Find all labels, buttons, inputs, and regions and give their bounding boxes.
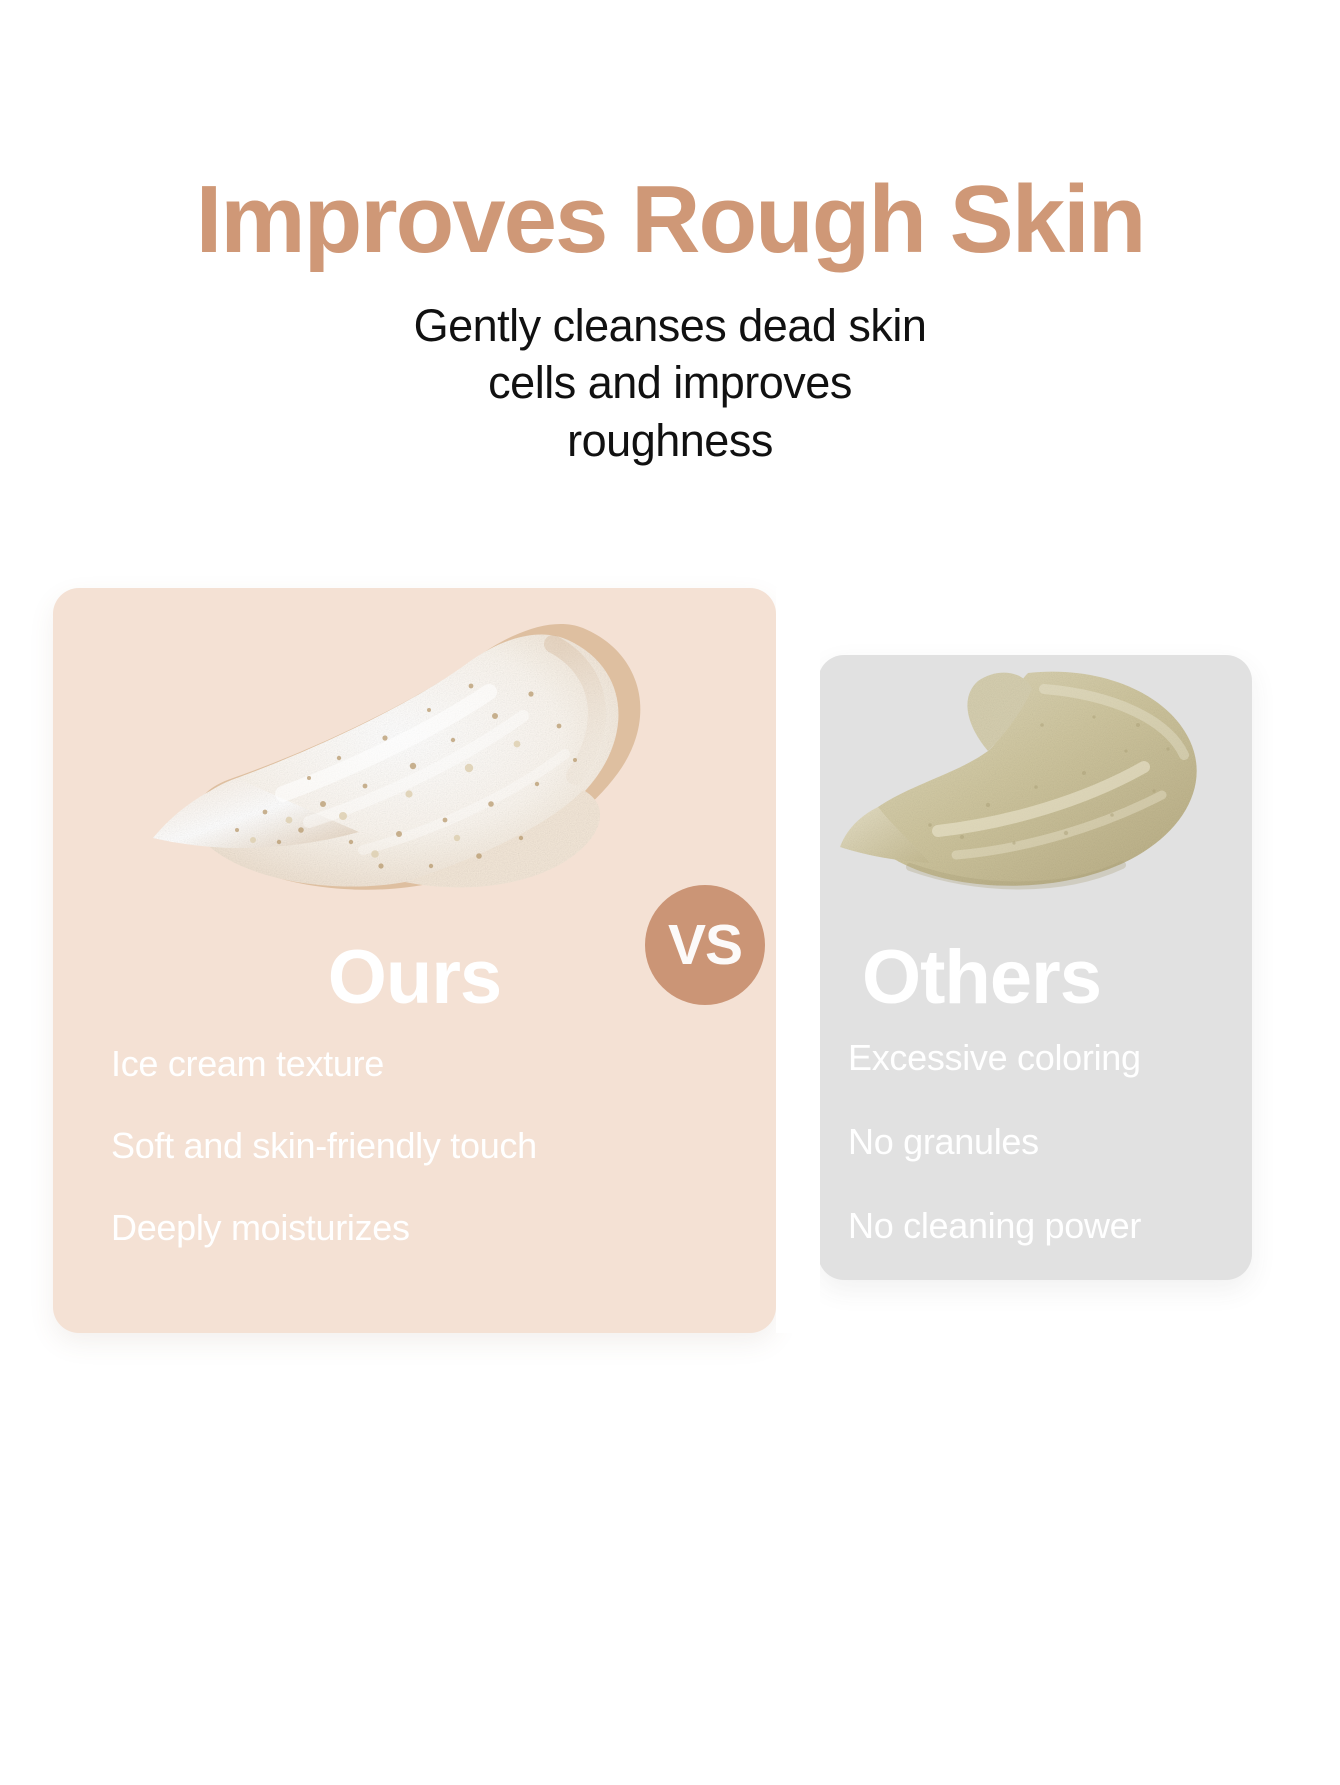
list-item: No granules <box>848 1124 1141 1160</box>
comparison-card-others: Others Excessive coloring No granules No… <box>818 655 1252 1280</box>
feature-list-ours: Ice cream texture Soft and skin-friendly… <box>111 1046 537 1292</box>
feature-list-others: Excessive coloring No granules No cleani… <box>848 1040 1141 1280</box>
list-item: Deeply moisturizes <box>111 1210 537 1246</box>
vs-badge-label: VS <box>668 917 742 974</box>
comparison-section: Ours Ice cream texture Soft and skin-fri… <box>0 0 1340 1785</box>
ice-cream-scrub-swatch-icon <box>113 598 713 948</box>
card-title-others: Others <box>862 940 1101 1016</box>
list-item: Soft and skin-friendly touch <box>111 1128 537 1164</box>
card-divider <box>776 588 820 1333</box>
list-item: Excessive coloring <box>848 1040 1141 1076</box>
beige-paste-swatch-icon <box>838 655 1238 925</box>
vs-badge: VS <box>645 885 765 1005</box>
list-item: No cleaning power <box>848 1208 1141 1244</box>
list-item: Ice cream texture <box>111 1046 537 1082</box>
